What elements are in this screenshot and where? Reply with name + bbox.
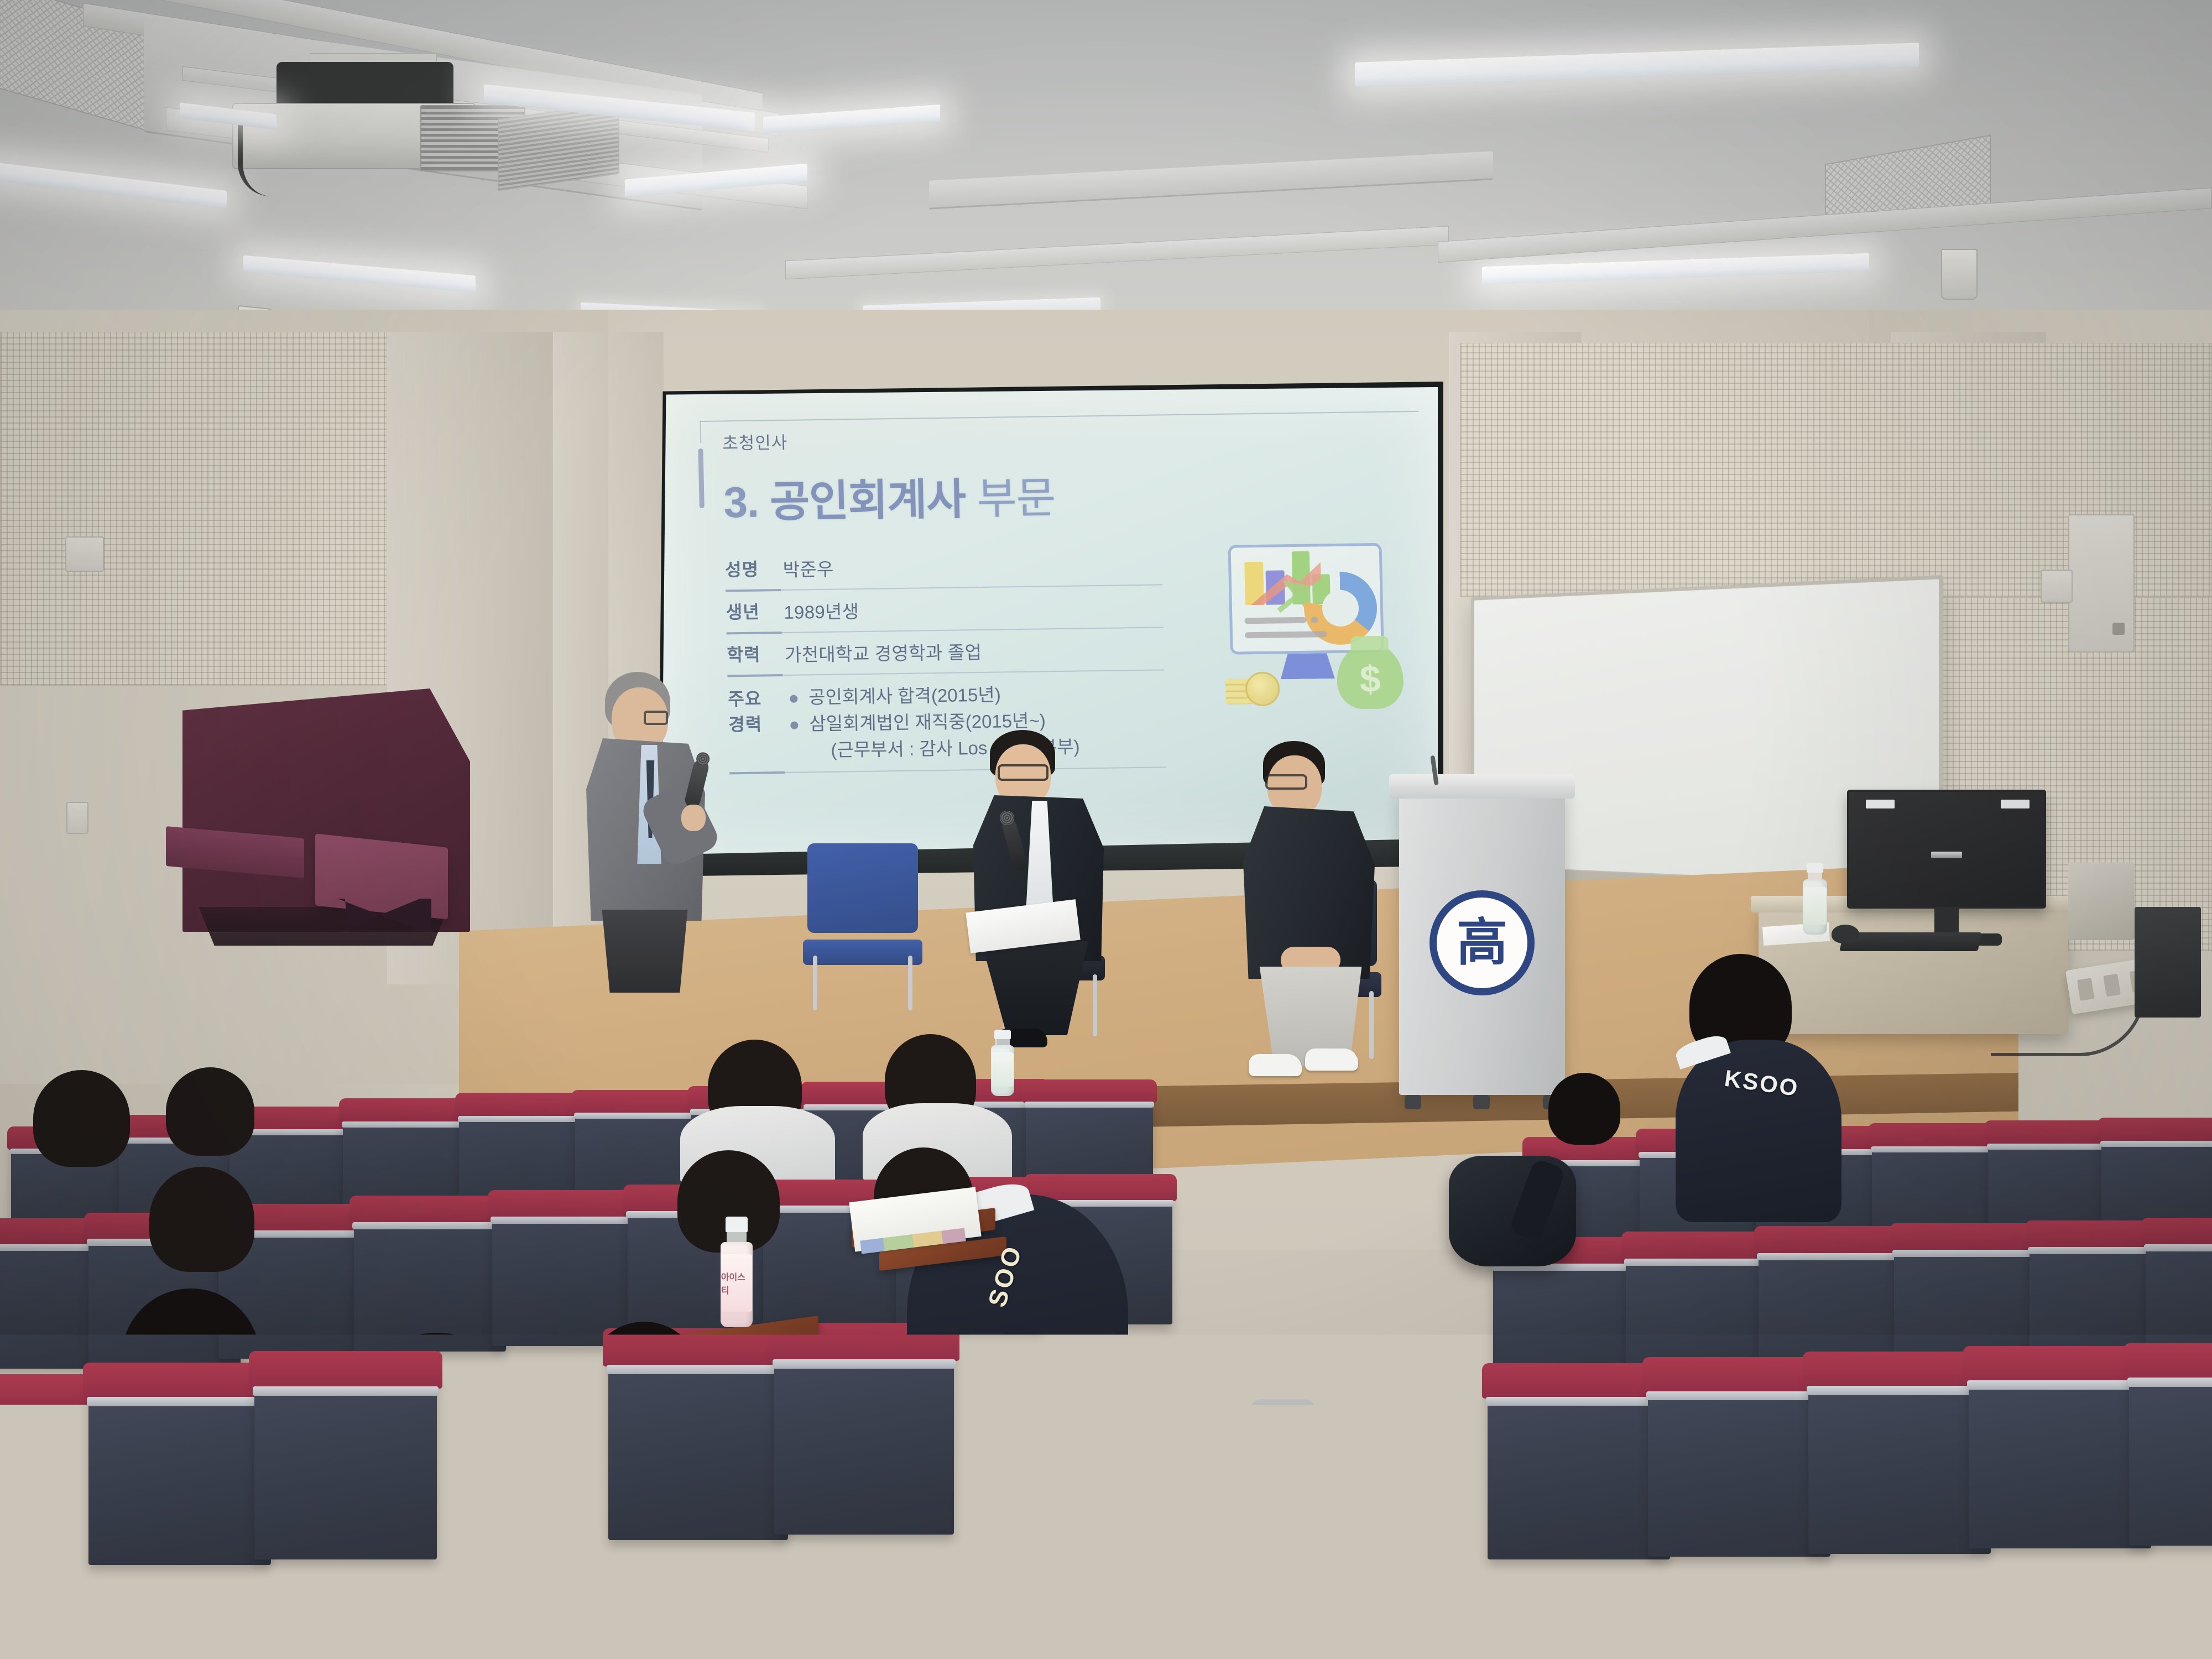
seat-crown (2124, 1343, 2212, 1380)
illustration-text-line-1 (1244, 617, 1306, 624)
auditorium-photo-scene: 초청인사 3. 공인회계사 부문 성명 박준우 생년 1989년생 학력 (0, 0, 2212, 1659)
seat-pipe (1486, 1397, 1672, 1406)
student-shoulders (260, 1460, 614, 1659)
guest-speaker-glasses (998, 764, 1048, 781)
seat-pipe (2144, 1244, 2212, 1251)
seat-right-front[interactable] (1808, 1371, 1991, 1554)
podium-wheels (1405, 1095, 1559, 1109)
illustration-text-line-2 (1245, 631, 1327, 638)
second-guest-shoe-left (1249, 1054, 1302, 1076)
wall-outlet-left[interactable] (65, 536, 104, 572)
crest-character: 高 (1457, 917, 1507, 968)
slide-title-main: 공인회계사 (769, 474, 966, 526)
slide-title-tail: 부문 (977, 473, 1056, 523)
row-value-birthyear: 1989년생 (784, 597, 859, 624)
drink-bottle-pink[interactable]: 아이스티 (719, 1217, 754, 1327)
floor-speaker (2135, 907, 2201, 1018)
illustration-text-dot (1311, 617, 1318, 623)
seat-pipe (2100, 1141, 2212, 1147)
row-label-career: 주요 경력 (728, 686, 784, 738)
finance-dashboard-illustration: $ (1218, 542, 1404, 711)
bag-strap (1509, 1158, 1566, 1242)
second-guest-glasses (1265, 774, 1307, 790)
row-value-education: 가천대학교 경영학과 졸업 (784, 638, 982, 667)
seat-crown (488, 1190, 646, 1218)
podium-top-surface (1389, 774, 1575, 799)
illustration-dollar-sign: $ (1336, 643, 1404, 709)
slide-title: 3. 공인회계사 부문 (723, 463, 1056, 530)
guest-speaker-trousers (977, 941, 1093, 1035)
slide-title-number: 3. (723, 478, 759, 527)
bottle-label (1803, 887, 1827, 925)
second-guest-shoe-right (1305, 1048, 1358, 1071)
wall-electrical-panel[interactable] (2068, 514, 2135, 653)
bag-on-seat[interactable] (1449, 1156, 1576, 1266)
moderator-hand (681, 805, 706, 831)
seat-right-nearest[interactable] (1460, 1548, 1681, 1659)
student-varsity-jacket-right (1676, 1040, 1841, 1222)
bottle-label: 아이스티 (721, 1254, 752, 1312)
ceiling-speaker-5 (1941, 249, 1978, 300)
career-label-line1: 주요 (728, 686, 784, 712)
seat-row-mid[interactable] (354, 1211, 506, 1352)
bottle-cap (481, 1405, 508, 1424)
seat-pipe (352, 1222, 508, 1229)
monitor-label-sticker-left (1866, 800, 1895, 808)
desktop-monitor[interactable] (1847, 790, 2046, 909)
seat-pipe (574, 1113, 707, 1119)
illustration-coin-icon (1245, 671, 1280, 706)
row-value-name: 박준우 (782, 555, 834, 582)
backpack-buckle-icon (979, 1430, 1012, 1455)
seat-pipe (1807, 1386, 1993, 1395)
moderator-trousers (596, 910, 693, 993)
desk-eraser-pieces (451, 1604, 469, 1618)
student-head (1548, 1073, 1620, 1145)
panel-latch-icon (2112, 623, 2125, 635)
slide-accent-bar (698, 448, 704, 508)
mouse[interactable] (1832, 925, 1859, 943)
slide-row-birthyear: 생년 1989년생 (726, 588, 1163, 630)
backpack-strap (1037, 1420, 1141, 1577)
water-bottle-av-desk[interactable] (1802, 863, 1828, 935)
bottle-label-text: 아이스티 (478, 1481, 511, 1494)
equipment-box (2068, 863, 2135, 940)
seat-row-mid[interactable] (492, 1206, 641, 1346)
career-label-line2: 경력 (728, 711, 784, 738)
seat-right-front[interactable] (1969, 1366, 2151, 1548)
keyboard[interactable] (1839, 932, 1981, 951)
moderator-glasses (644, 711, 668, 725)
seat-crown (349, 1196, 511, 1224)
seat-crown (1022, 1079, 1157, 1103)
illustration-coins (1225, 671, 1286, 707)
student-head (719, 1554, 885, 1659)
seat-pipe (1892, 1250, 2051, 1257)
guest-speaker-seated (973, 730, 1112, 1029)
monitor-brand-logo (1931, 852, 1962, 858)
illustration-money-bag-icon: $ (1336, 643, 1404, 709)
bottle-cap (1807, 863, 1824, 873)
chair-leg-left (813, 956, 817, 1010)
slide-header-tick (700, 421, 701, 443)
folding-chair-empty[interactable] (807, 843, 918, 1004)
seat-pipe (1646, 1391, 1833, 1400)
acoustic-panel-left (0, 332, 387, 686)
second-guest-seated (1239, 741, 1383, 1051)
slide-row-education: 학력 가천대학교 경영학과 졸업 (727, 631, 1164, 673)
lectern-podium[interactable]: 高 (1399, 785, 1565, 1095)
seat-pipe (1967, 1380, 2153, 1390)
light-switch-left[interactable] (66, 802, 88, 834)
student-backpack[interactable] (929, 1416, 1161, 1637)
seat-pipe (1757, 1253, 1915, 1260)
illustration-monitor-stand (1280, 653, 1335, 679)
row-label-education: 학력 (727, 640, 782, 666)
slide-row-name: 성명 박준우 (725, 546, 1162, 588)
duksoo-high-school-crest: 高 (1430, 890, 1535, 995)
student-head (33, 1070, 130, 1167)
chair-backrest (807, 843, 918, 933)
bottle-label (992, 1052, 1014, 1087)
floor-vent (1250, 1399, 1316, 1425)
seat-pipe (1458, 1561, 1683, 1569)
seat-pipe (491, 1217, 643, 1224)
chair-leg-right (908, 956, 912, 1010)
row-label-birthyear: 생년 (726, 598, 781, 624)
seat-pipe (2127, 1378, 2212, 1387)
wall-switch-plate[interactable] (2041, 570, 2073, 603)
moderator-standing (586, 672, 713, 982)
bottle-cap (994, 1030, 1010, 1039)
student-head (149, 1167, 254, 1272)
monitor-label-sticker-right (2001, 800, 2030, 808)
seat-pipe (1025, 1102, 1155, 1108)
student-head (166, 1067, 254, 1156)
slide-header-rule (700, 411, 1418, 422)
row-label-name: 성명 (725, 555, 781, 581)
seat-crown (2141, 1218, 2212, 1246)
water-bottle-stage[interactable] (990, 1030, 1015, 1096)
seat-pipe (458, 1116, 593, 1122)
seat-right-front[interactable] (2129, 1363, 2212, 1546)
seat-crown (2098, 1118, 2212, 1142)
chair-seat (803, 940, 922, 965)
slide-eyebrow: 초청인사 (722, 429, 788, 455)
bottle-label-text: 아이스티 (721, 1270, 752, 1296)
bottle-label: 아이스티 (476, 1452, 514, 1524)
drink-bottle-icedtea[interactable]: 아이스티 (473, 1405, 516, 1543)
bottle-cap (726, 1217, 748, 1232)
